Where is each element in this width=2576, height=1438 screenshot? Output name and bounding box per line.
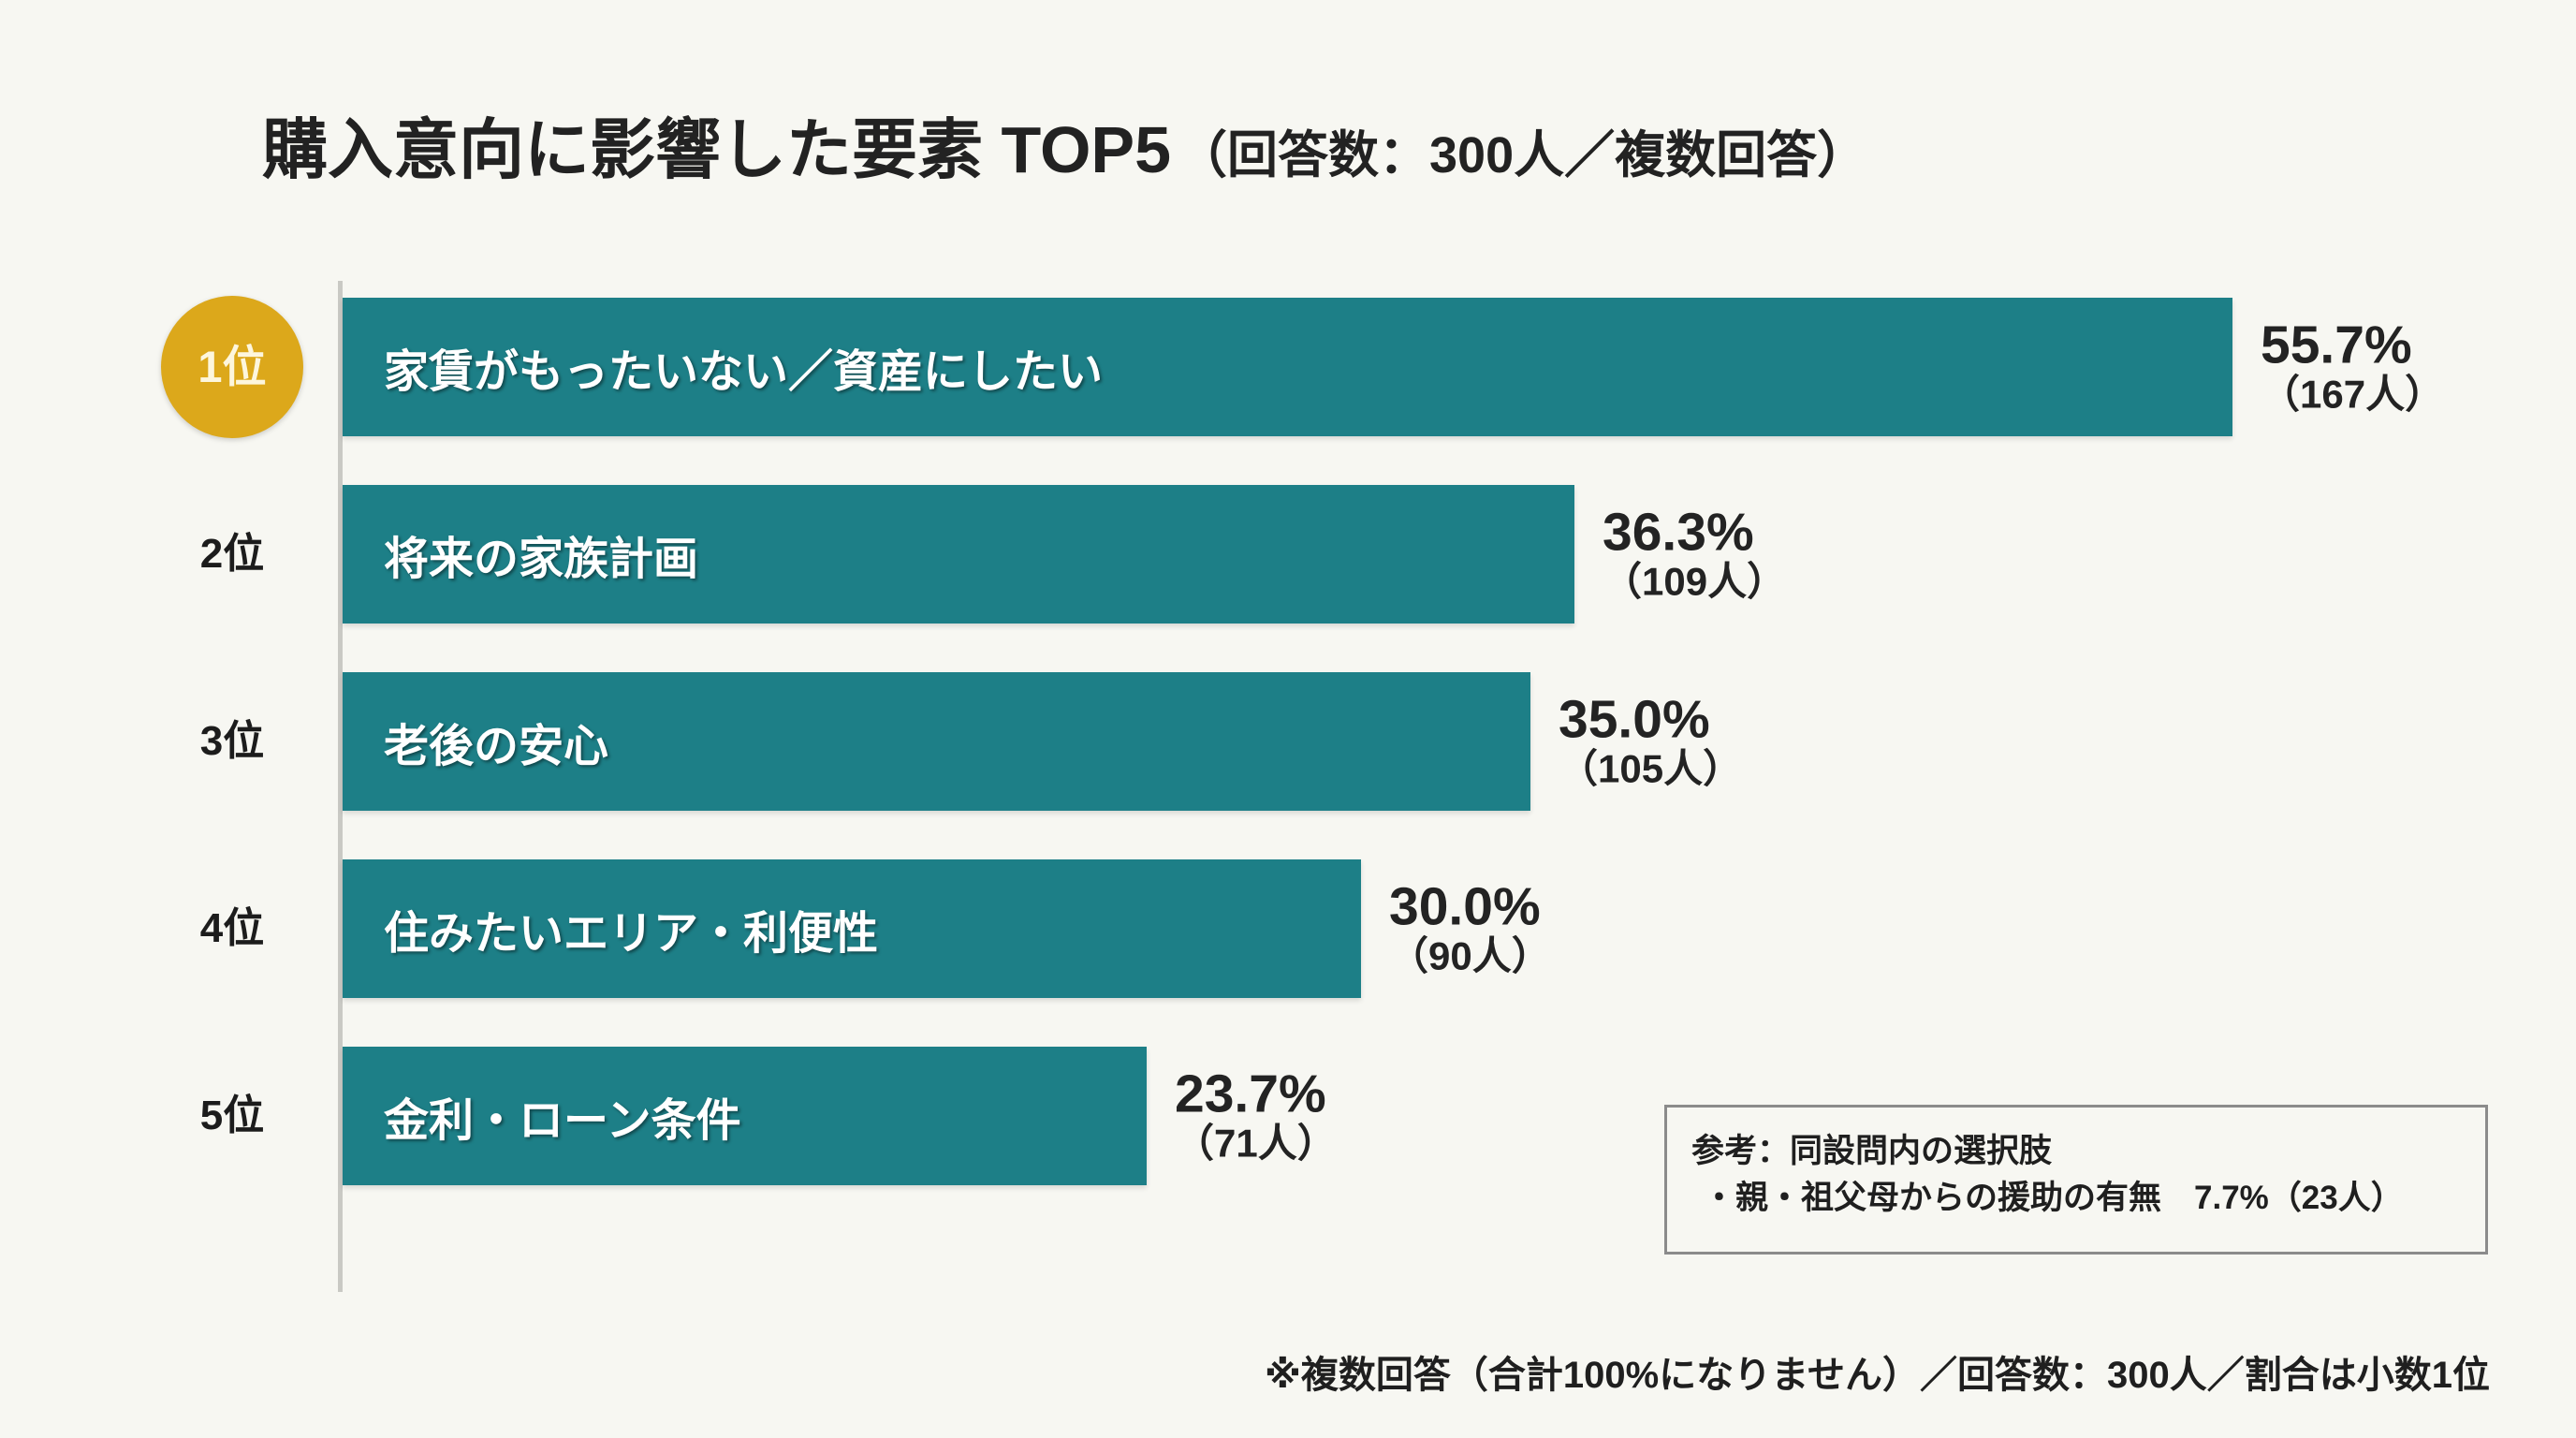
chart-canvas: 購入意向に影響した要素 TOP5 （回答数：300人／複数回答） 1位家賃がもっ… [0,0,2576,1438]
rank-label-5: 5位 [153,1047,312,1185]
rank-label-4: 4位 [153,859,312,998]
footer-note: ※複数回答（合計100%になりません）／回答数：300人／割合は小数1位 [1265,1344,2490,1399]
bar-3: 老後の安心 [343,672,1530,811]
bar-label-5: 金利・ローン条件 [384,1083,741,1149]
bar-value-percent-1: 55.7% [2261,317,2444,372]
bar-label-3: 老後の安心 [384,709,608,774]
rank-badge-1: 1位 [161,296,303,438]
bar-value-percent-5: 23.7% [1175,1066,1337,1121]
bar-label-2: 将来の家族計画 [384,521,698,587]
bar-4: 住みたいエリア・利便性 [343,859,1361,998]
rank-label-2: 2位 [153,485,312,624]
bar-value-percent-4: 30.0% [1389,879,1551,933]
page-title: 購入意向に影響した要素 TOP5 [262,97,1171,192]
bar-value-count-3: （105人） [1559,747,1742,791]
bar-2: 将来の家族計画 [343,485,1574,624]
bar-value-count-5: （71人） [1175,1122,1337,1166]
bar-5: 金利・ローン条件 [343,1047,1147,1185]
bar-value-count-4: （90人） [1389,934,1551,978]
chart-header: 購入意向に影響した要素 TOP5 （回答数：300人／複数回答） [262,97,1867,192]
bar-value-5: 23.7%（71人） [1175,1066,1337,1165]
bar-value-3: 35.0%（105人） [1559,692,1742,790]
reference-note-line-2: ・親・祖父母からの援助の有無 7.7%（23人） [1691,1175,2463,1222]
bar-value-count-1: （167人） [2261,373,2444,417]
reference-note-box: 参考：同設問内の選択肢 ・親・祖父母からの援助の有無 7.7%（23人） [1664,1105,2488,1255]
bar-value-1: 55.7%（167人） [2261,317,2444,416]
bar-value-count-2: （109人） [1603,560,1786,604]
bar-1: 家賃がもったいない／資産にしたい [343,298,2232,436]
chart-subtitle: （回答数：300人／複数回答） [1177,113,1867,187]
bar-label-4: 住みたいエリア・利便性 [384,896,878,961]
reference-note-line-1: 参考：同設問内の選択肢 [1691,1128,2463,1175]
bar-label-1: 家賃がもったいない／資産にしたい [384,334,1103,400]
bar-value-2: 36.3%（109人） [1603,505,1786,603]
bar-value-4: 30.0%（90人） [1389,879,1551,977]
bar-value-percent-3: 35.0% [1559,692,1742,746]
rank-label-3: 3位 [153,672,312,811]
bar-value-percent-2: 36.3% [1603,505,1786,559]
